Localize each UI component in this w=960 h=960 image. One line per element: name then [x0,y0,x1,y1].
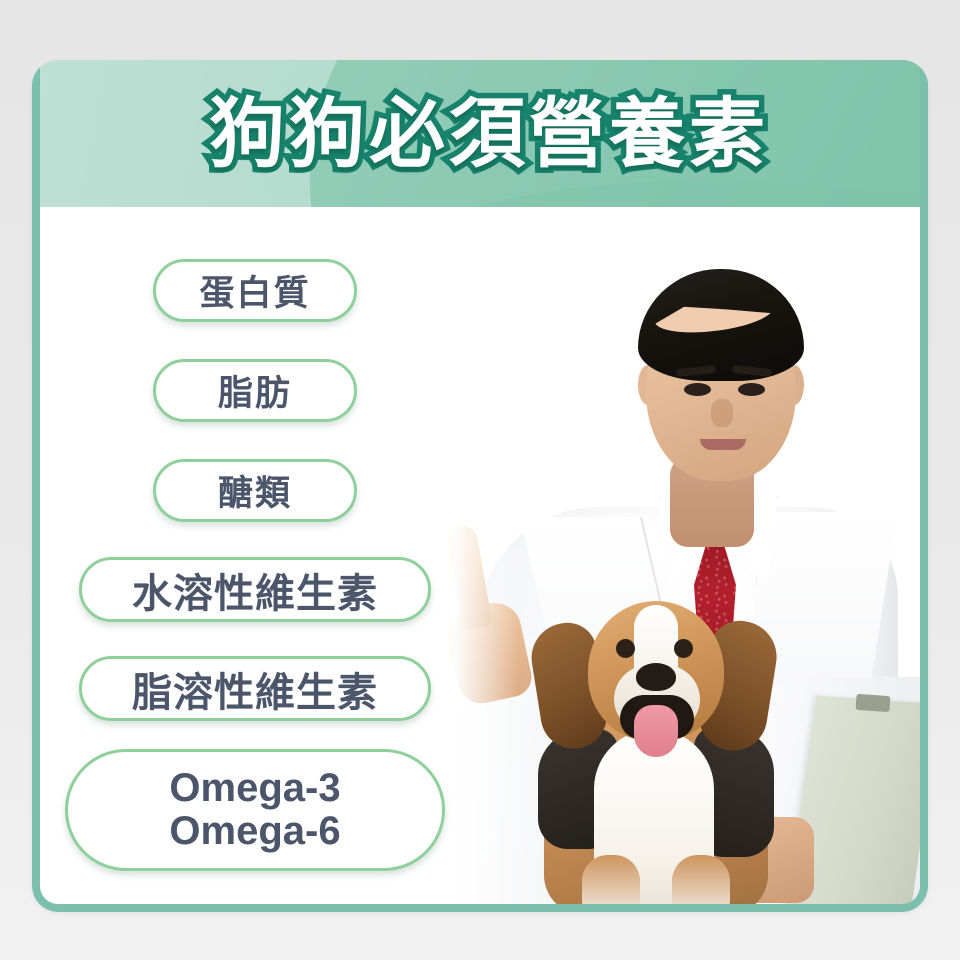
shirt-collar-left [638,496,729,599]
nose [711,399,733,427]
dog-leg-left [582,855,640,912]
lab-coat [478,507,898,912]
vet-and-dog-photo [408,207,928,912]
nutrient-label: 醣類 [218,465,292,516]
eye-right [738,383,765,396]
infographic-card: 狗狗必須營養素 [32,60,928,912]
ear-left [638,365,658,405]
nutrient-label: 水溶性維生素 [132,561,378,619]
face [646,285,796,481]
neck [670,457,754,547]
nutrient-pill-omega-fatty-acids[interactable]: Omega-3 Omega-6 [65,749,445,871]
eye-left [684,383,711,396]
nutrient-label: 脂肪 [218,365,292,416]
dog-mouth [620,695,694,739]
nutrient-label: 脂溶性維生素 [132,660,378,718]
ear-right [784,365,804,405]
dog-face-blaze [634,605,678,713]
dog-body [544,715,768,912]
nutrient-pill-fat-soluble-vitamins[interactable]: 脂溶性維生素 [79,656,431,721]
nutrient-label: 蛋白質 [199,265,310,316]
hair [638,269,804,381]
card-body: 蛋白質 脂肪 醣類 水溶性維生素 脂溶性維生素 [32,207,928,912]
nutrient-pill-water-soluble-vitamins[interactable]: 水溶性維生素 [79,557,431,622]
dog-nose [636,663,676,691]
beagle-puppy [508,579,808,912]
red-necktie [694,537,736,737]
header-banner: 狗狗必須營養素 [32,60,928,207]
nutrient-label-omega-6: Omega-6 [169,810,340,853]
page-title: 狗狗必須營養素 [32,96,928,172]
dog-eye-left [616,639,635,658]
nutrient-pill-protein[interactable]: 蛋白質 [153,259,357,322]
dog-shoulder-left [538,729,618,849]
hand-holding-clipboard [718,817,814,903]
dog-head [588,601,724,741]
dress-shirt [666,507,762,677]
nutrient-pill-carbohydrate[interactable]: 醣類 [153,459,357,522]
arm-right [758,677,928,912]
eyebrow-right [732,365,773,377]
clipboard [784,696,928,912]
mouth [700,439,746,450]
poster-canvas: 狗狗必須營養素 [0,0,960,960]
eyebrow-left [676,365,717,377]
dog-eye-right [674,639,693,658]
dog-ear-left [527,619,612,754]
nutrient-pill-fat[interactable]: 脂肪 [153,359,357,422]
dog-muzzle [614,665,700,731]
dog-tongue [634,705,678,757]
coat-lapel-right [710,512,897,862]
dog-shoulder-right [694,727,774,857]
clipboard-clip [855,694,890,712]
shirt-collar-right [708,496,799,599]
dog-ear-right [694,616,781,755]
nutrient-label-omega-3: Omega-3 [169,767,340,810]
dog-chest [594,729,714,912]
dog-leg-right [672,855,730,912]
coat-lapel-left [520,517,718,847]
nutrient-list: 蛋白質 脂肪 醣類 水溶性維生素 脂溶性維生素 [40,259,470,871]
